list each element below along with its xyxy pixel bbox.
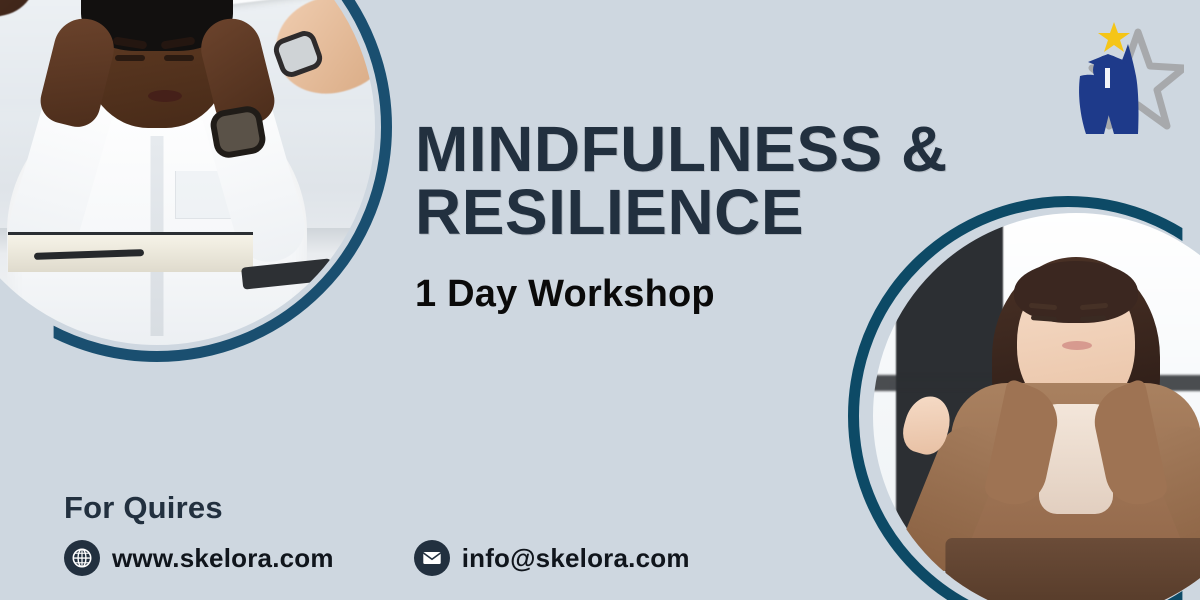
contact-block: For Quires www.skelora.com: [64, 490, 690, 576]
subtitle: 1 Day Workshop: [415, 273, 1035, 316]
globe-icon: [64, 540, 100, 576]
website-contact[interactable]: www.skelora.com: [64, 540, 334, 576]
left-photo-circle: [0, 0, 392, 362]
headline-block: MINDFULNESS & RESILIENCE 1 Day Workshop: [415, 118, 1035, 316]
woman-lips: [1062, 341, 1092, 350]
yellow-star: [1098, 22, 1130, 52]
website-text: www.skelora.com: [112, 543, 334, 574]
email-text: info@skelora.com: [462, 543, 690, 574]
contact-heading: For Quires: [64, 490, 690, 526]
contact-rows: www.skelora.com info@skelora.com: [64, 540, 690, 576]
skelora-logo[interactable]: [1058, 14, 1184, 140]
event-banner: MINDFULNESS & RESILIENCE 1 Day Workshop …: [0, 0, 1200, 600]
laptop: [945, 538, 1200, 600]
page-title: MINDFULNESS & RESILIENCE: [415, 118, 1035, 243]
email-contact[interactable]: info@skelora.com: [414, 540, 690, 576]
envelope-icon: [414, 540, 450, 576]
